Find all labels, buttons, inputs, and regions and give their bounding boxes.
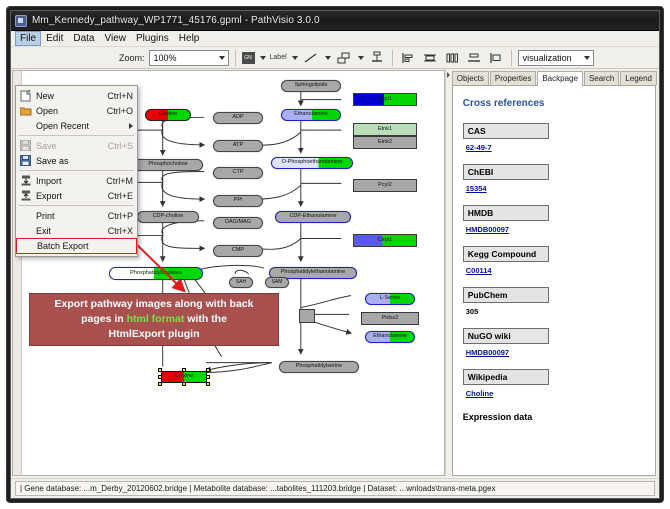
xref-value-nugo-wiki[interactable]: HMDB00097 bbox=[466, 348, 509, 357]
xref-header-hmdb: HMDB bbox=[463, 205, 549, 221]
menu-item-accel: Ctrl+M bbox=[106, 176, 133, 186]
shape-icon[interactable] bbox=[335, 49, 353, 67]
import-icon bbox=[18, 174, 33, 187]
callout-line-2-b: with the bbox=[184, 313, 227, 325]
menu-item-print[interactable]: Print Ctrl+P bbox=[16, 208, 137, 223]
menu-separator-1 bbox=[19, 135, 134, 136]
status-bar: | Gene database: ...m_Derby_20120602.bri… bbox=[11, 478, 659, 498]
menu-file[interactable]: File bbox=[15, 31, 41, 46]
menu-separator-2 bbox=[19, 170, 134, 171]
datanode-icon[interactable]: GN bbox=[242, 52, 255, 64]
line-icon[interactable] bbox=[302, 49, 320, 67]
open-folder-icon bbox=[18, 104, 33, 117]
datanode-dropdown-icon[interactable] bbox=[260, 56, 266, 60]
align-left-icon[interactable] bbox=[399, 49, 417, 67]
title-bar: Mm_Kennedy_pathway_WP1771_45176.gpml - P… bbox=[11, 11, 659, 31]
save-as-icon bbox=[18, 154, 33, 167]
application-window: Mm_Kennedy_pathway_WP1771_45176.gpml - P… bbox=[6, 6, 664, 503]
zoom-label: Zoom: bbox=[119, 53, 145, 63]
menu-bar: File Edit Data View Plugins Help bbox=[11, 31, 659, 47]
align-center-icon[interactable] bbox=[421, 49, 439, 67]
menu-item-accel: Ctrl+P bbox=[108, 211, 133, 221]
anchor-icon[interactable] bbox=[368, 49, 386, 67]
menu-item-label: Import bbox=[36, 176, 106, 186]
blank-icon-3 bbox=[18, 224, 33, 237]
panel-collapse-handle[interactable] bbox=[445, 69, 450, 476]
visualization-combobox[interactable]: visualization bbox=[518, 50, 594, 66]
xref-value-wikipedia[interactable]: Choline bbox=[466, 389, 494, 398]
blank-icon-4 bbox=[19, 240, 34, 253]
menu-help[interactable]: Help bbox=[174, 31, 205, 46]
menu-item-label: New bbox=[36, 91, 107, 101]
align-middle-icon[interactable] bbox=[443, 49, 461, 67]
menu-item-exit[interactable]: Exit Ctrl+X bbox=[16, 223, 137, 238]
menu-item-label: Batch Export bbox=[37, 241, 132, 251]
align-right-icon[interactable] bbox=[487, 49, 505, 67]
xref-header-cas: CAS bbox=[463, 123, 549, 139]
menu-edit[interactable]: Edit bbox=[41, 31, 68, 46]
menu-item-accel: Ctrl+O bbox=[107, 106, 133, 116]
tab-search[interactable]: Search bbox=[584, 71, 619, 85]
menu-item-label: Print bbox=[36, 211, 108, 221]
chevron-down-icon-2 bbox=[584, 56, 590, 60]
tab-backpage[interactable]: Backpage bbox=[537, 71, 583, 86]
menu-item-save[interactable]: Save Ctrl+S bbox=[16, 138, 137, 153]
window-title: Mm_Kennedy_pathway_WP1771_45176.gpml - P… bbox=[32, 15, 320, 26]
menu-item-import[interactable]: Import Ctrl+M bbox=[16, 173, 137, 188]
menu-data[interactable]: Data bbox=[68, 31, 99, 46]
menu-item-label: Save bbox=[36, 141, 108, 151]
menu-item-export[interactable]: Export Ctrl+E bbox=[16, 188, 137, 203]
export-icon bbox=[18, 189, 33, 202]
xref-header-kegg-compound: Kegg Compound bbox=[463, 246, 549, 262]
xref-value-kegg-compound[interactable]: C00114 bbox=[466, 266, 492, 275]
callout-highlight: html format bbox=[127, 313, 185, 325]
cross-references-title: Cross references bbox=[463, 98, 645, 109]
visualization-value: visualization bbox=[523, 53, 572, 63]
menu-item-accel: Ctrl+E bbox=[108, 191, 133, 201]
blank-icon-2 bbox=[18, 209, 33, 222]
toolbar: Zoom: 100% GN Label bbox=[11, 47, 659, 69]
menu-item-label: Save as bbox=[36, 156, 133, 166]
menu-plugins[interactable]: Plugins bbox=[131, 31, 174, 46]
tab-properties[interactable]: Properties bbox=[490, 71, 536, 85]
zoom-combobox[interactable]: 100% bbox=[149, 50, 229, 66]
menu-item-open[interactable]: Open Ctrl+O bbox=[16, 103, 137, 118]
xref-header-pubchem: PubChem bbox=[463, 287, 549, 303]
tab-legend[interactable]: Legend bbox=[620, 71, 657, 85]
menu-separator-3 bbox=[19, 205, 134, 206]
annotation-callout: Export pathway images along with back pa… bbox=[29, 293, 279, 346]
xref-header-chebi: ChEBI bbox=[463, 164, 549, 180]
menu-item-open-recent[interactable]: Open Recent bbox=[16, 118, 137, 133]
menu-view[interactable]: View bbox=[99, 31, 131, 46]
zoom-value: 100% bbox=[154, 53, 177, 63]
toolbar-separator bbox=[235, 50, 236, 66]
menu-item-label: Open Recent bbox=[36, 121, 129, 131]
callout-line-3: HtmlExport plugin bbox=[36, 327, 272, 342]
xref-header-nugo-wiki: NuGO wiki bbox=[463, 328, 549, 344]
chevron-down-icon bbox=[219, 56, 225, 60]
screenshot-root: Mm_Kennedy_pathway_WP1771_45176.gpml - P… bbox=[0, 0, 670, 509]
label-dropdown-icon[interactable] bbox=[292, 56, 298, 60]
shape-dropdown-icon[interactable] bbox=[358, 56, 364, 60]
menu-item-accel: Ctrl+N bbox=[107, 91, 133, 101]
backpage-content[interactable]: Cross references CAS 62-49-7 ChEBI 15354… bbox=[452, 85, 656, 476]
menu-item-new[interactable]: New Ctrl+N bbox=[16, 88, 137, 103]
menu-item-label: Exit bbox=[36, 226, 108, 236]
save-icon bbox=[18, 139, 33, 152]
side-panel: Objects Properties Backpage Search Legen… bbox=[445, 69, 659, 476]
menu-item-label: Open bbox=[36, 106, 107, 116]
xref-value-chebi[interactable]: 15354 bbox=[466, 184, 487, 193]
callout-line-2-a: pages in bbox=[81, 313, 127, 325]
window-inner: Mm_Kennedy_pathway_WP1771_45176.gpml - P… bbox=[10, 10, 660, 499]
menu-item-batch-export[interactable]: Batch Export bbox=[16, 238, 137, 254]
toolbar-separator-3 bbox=[511, 50, 512, 66]
callout-line-1: Export pathway images along with back bbox=[36, 297, 272, 312]
menu-item-label: Export bbox=[36, 191, 108, 201]
menu-item-accel: Ctrl+S bbox=[108, 141, 133, 151]
side-panel-tabs: Objects Properties Backpage Search Legen… bbox=[452, 70, 657, 85]
status-bar-text: | Gene database: ...m_Derby_20120602.bri… bbox=[15, 481, 655, 496]
blank-icon bbox=[18, 119, 33, 132]
xref-value-cas[interactable]: 62-49-7 bbox=[466, 143, 492, 152]
new-file-icon bbox=[18, 89, 33, 102]
xref-value-hmdb[interactable]: HMDB00097 bbox=[466, 225, 509, 234]
line-dropdown-icon[interactable] bbox=[325, 56, 331, 60]
app-icon bbox=[15, 15, 27, 27]
xref-header-wikipedia: Wikipedia bbox=[463, 369, 549, 385]
label-icon[interactable]: Label bbox=[270, 54, 287, 61]
submenu-arrow-icon bbox=[129, 123, 133, 129]
stack-icon[interactable] bbox=[465, 49, 483, 67]
callout-line-2: pages in html format with the bbox=[36, 312, 272, 327]
tab-objects[interactable]: Objects bbox=[452, 71, 489, 85]
xref-value-pubchem: 305 bbox=[466, 307, 479, 316]
menu-item-save-as[interactable]: Save as bbox=[16, 153, 137, 168]
expression-data-title: Expression data bbox=[463, 412, 645, 422]
toolbar-separator-2 bbox=[392, 50, 393, 66]
menu-item-accel: Ctrl+X bbox=[108, 226, 133, 236]
file-menu-dropdown: New Ctrl+N Open Ctrl+O Open Recent bbox=[15, 85, 138, 257]
